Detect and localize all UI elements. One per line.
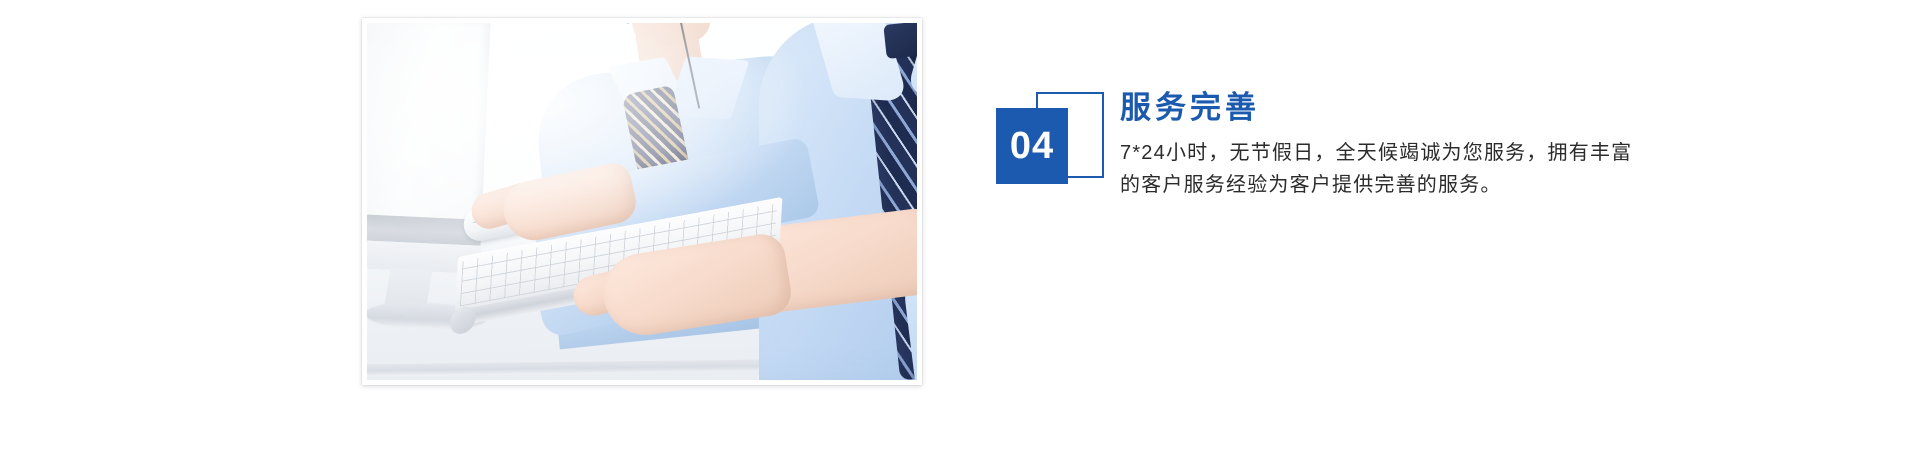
feature-title: 服务完善 [1120, 90, 1636, 127]
photo-frame [362, 18, 922, 385]
headset-microphone [610, 23, 635, 24]
feature-content: 04 服务完善 7*24小时，无节假日，全天候竭诚为您服务，拥有丰富的客户服务经… [996, 92, 1636, 312]
feature-text-column: 服务完善 7*24小时，无节假日，全天候竭诚为您服务，拥有丰富的客户服务经验为客… [1120, 90, 1636, 201]
agent-b-tie-knot [883, 23, 917, 59]
service-feature-banner: 04 服务完善 7*24小时，无节假日，全天候竭诚为您服务，拥有丰富的客户服务经… [0, 0, 1920, 452]
feature-description: 7*24小时，无节假日，全天候竭诚为您服务，拥有丰富的客户服务经验为客户提供完善… [1120, 137, 1636, 202]
feature-number-badge: 04 [996, 92, 1104, 198]
badge-number-text: 04 [1010, 127, 1054, 165]
office-photo [367, 23, 917, 380]
badge-filled-square: 04 [996, 108, 1068, 184]
